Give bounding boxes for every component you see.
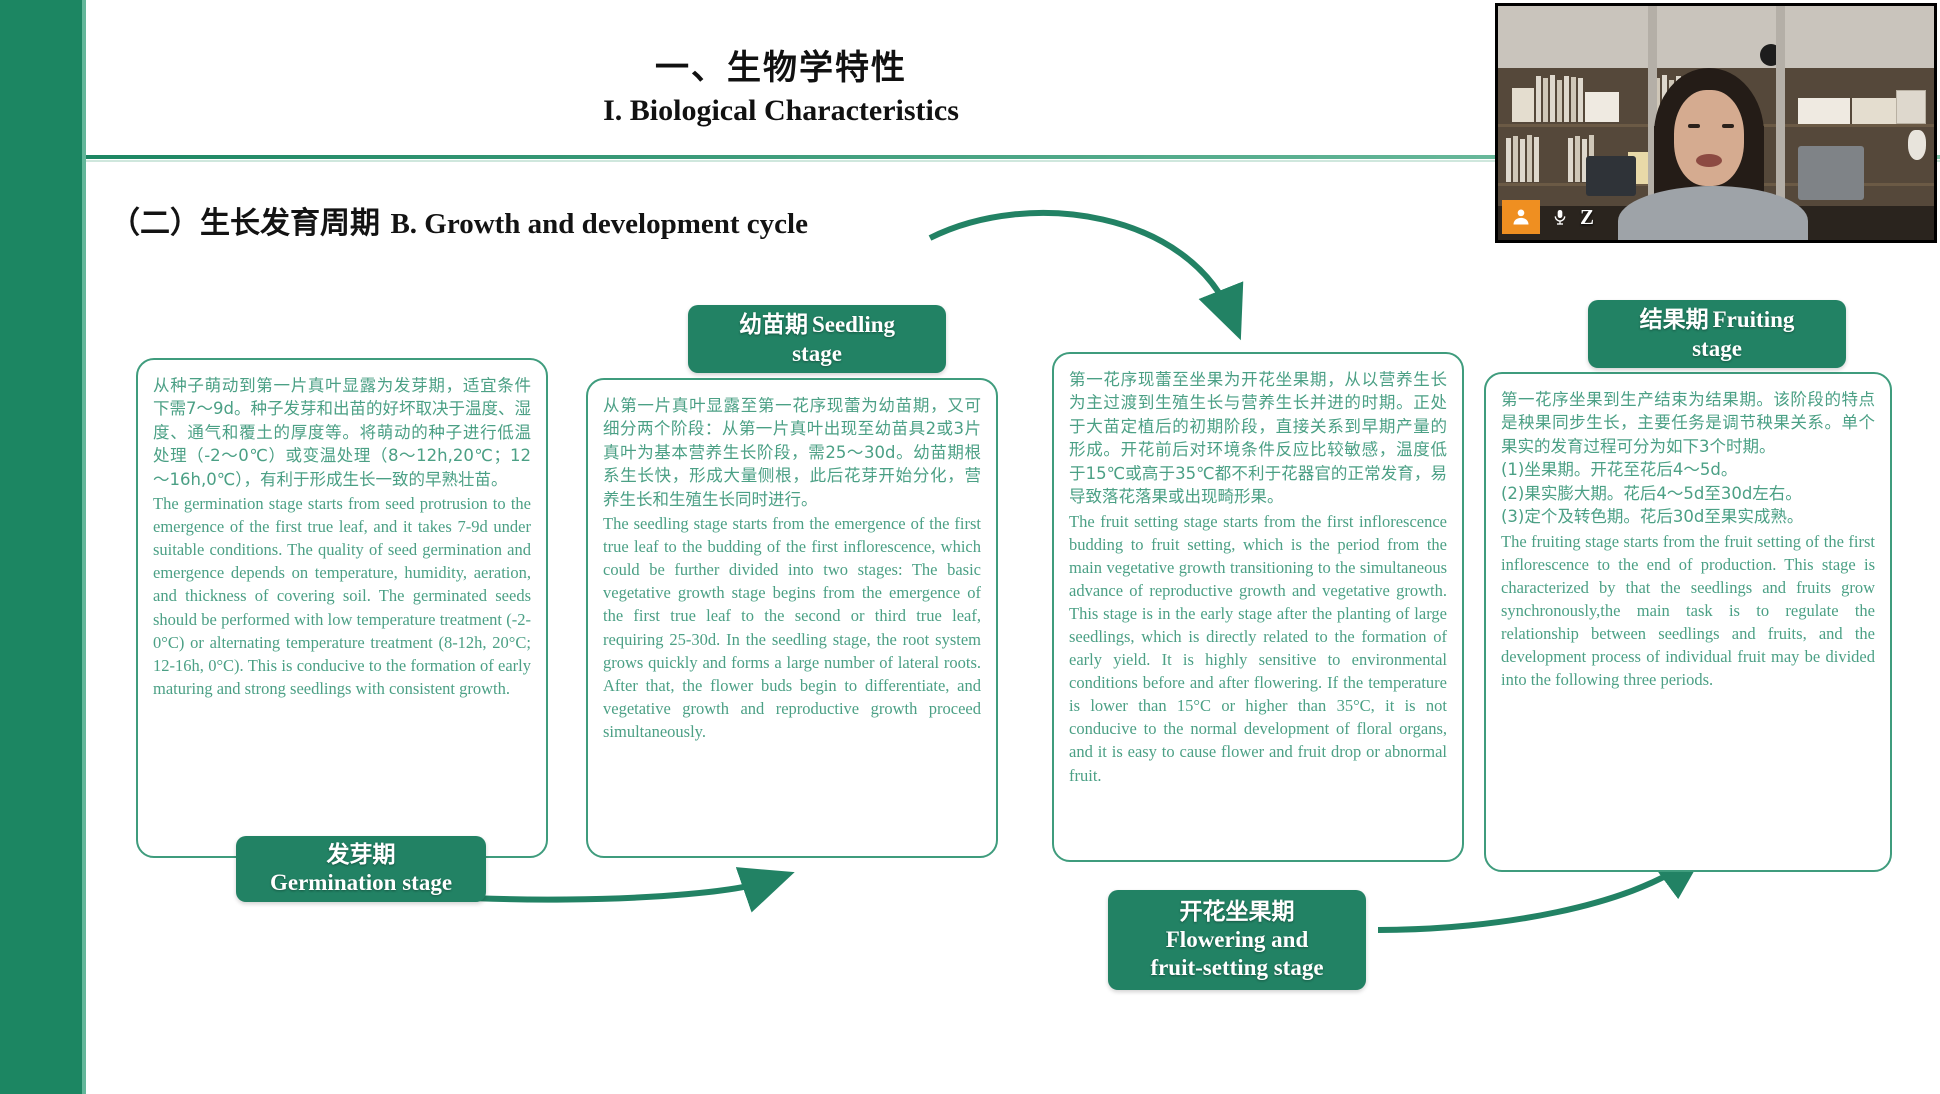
page-title-cn: 一、生物学特性 [86, 40, 1476, 89]
participant-eye-left [1688, 124, 1700, 128]
stage-label-fruiting-en-line1: Fruiting [1713, 307, 1795, 332]
slide-canvas: 一、生物学特性 I. Biological Characteristics （二… [0, 0, 1940, 1094]
stage-label-germination-en: Germination stage [270, 869, 452, 896]
stage-label-germination-cn: 发芽期 [327, 842, 396, 869]
storage-box-2 [1896, 90, 1926, 124]
stage-label-seedling-cn: 幼苗期 [739, 312, 808, 338]
stage-label-flowering-cn: 开花坐果期 [1180, 899, 1295, 926]
stage-card-fruiting-text-en: The fruiting stage starts from the fruit… [1501, 530, 1875, 692]
stage-label-fruiting[interactable]: 结果期 Fruiting stage [1588, 300, 1846, 368]
microphone-icon[interactable] [1552, 205, 1568, 229]
stage-card-germination: 从种子萌动到第一片真叶显露为发芽期，适宜条件下需7～9d。种子发芽和出苗的好坏取… [136, 358, 548, 858]
participant-mouth [1696, 154, 1722, 167]
video-controls-bar[interactable]: Z [1502, 200, 1594, 234]
books-group-1 [1512, 72, 1619, 122]
books-group-4 [1506, 132, 1539, 182]
stage-label-seedling-en-line2: stage [792, 340, 842, 367]
stage-label-flowering[interactable]: 开花坐果期 Flowering and fruit-setting stage [1108, 890, 1366, 990]
arrow-seedling-to-flowering [930, 213, 1232, 318]
background-wall [1498, 6, 1934, 68]
stage-label-flowering-en-line1: Flowering and [1166, 926, 1308, 953]
section-subtitle: （二）生长发育周期 B. Growth and development cycl… [110, 198, 808, 242]
monitor-object [1798, 146, 1864, 200]
stage-card-seedling-text-cn: 从第一片真叶显露至第一花序现蕾为幼苗期，又可细分两个阶段：从第一片真叶出现至幼苗… [603, 394, 981, 511]
stage-card-fruiting-text-cn: 第一花序坐果到生产结束为结果期。该阶段的特点是秧果同步生长，主要任务是调节秧果关… [1501, 388, 1875, 529]
stage-card-seedling: 从第一片真叶显露至第一花序现蕾为幼苗期，又可细分两个阶段：从第一片真叶出现至幼苗… [586, 378, 998, 858]
section-subtitle-cn: （二）生长发育周期 [110, 206, 390, 241]
books-group-3 [1798, 84, 1904, 124]
participant-face [1674, 90, 1744, 186]
stage-label-germination[interactable]: 发芽期 Germination stage [236, 836, 486, 902]
video-overlay-panel[interactable]: Z [1495, 3, 1937, 243]
left-accent-bar [0, 0, 82, 1094]
stage-card-flowering-text-cn: 第一花序现蕾至坐果为开花坐果期，从以营养生长为主过渡到生殖生长与营养生长并进的时… [1069, 368, 1447, 509]
stage-label-fruiting-cn: 结果期 [1640, 307, 1709, 333]
stage-card-flowering: 第一花序现蕾至坐果为开花坐果期，从以营养生长为主过渡到生殖生长与营养生长并进的时… [1052, 352, 1464, 862]
left-accent-highlight [82, 0, 86, 1094]
slide-header: 一、生物学特性 I. Biological Characteristics [86, 0, 1476, 158]
participant-eye-right [1722, 124, 1734, 128]
laptop-object [1586, 156, 1636, 196]
decor-vase [1908, 130, 1926, 160]
section-subtitle-en: B. Growth and development cycle [390, 208, 808, 240]
stage-label-fruiting-en-line2: stage [1692, 335, 1742, 362]
stage-label-seedling[interactable]: 幼苗期 Seedling stage [688, 305, 946, 373]
stage-card-seedling-text-en: The seedling stage starts from the emerg… [603, 512, 981, 743]
stage-label-seedling-en-line1: Seedling [812, 312, 895, 337]
stage-card-germination-text-cn: 从种子萌动到第一片真叶显露为发芽期，适宜条件下需7～9d。种子发芽和出苗的好坏取… [153, 374, 531, 491]
stage-card-flowering-text-en: The fruit setting stage starts from the … [1069, 510, 1447, 787]
stage-card-germination-text-en: The germination stage starts from seed p… [153, 492, 531, 700]
stage-card-fruiting: 第一花序坐果到生产结束为结果期。该阶段的特点是秧果同步生长，主要任务是调节秧果关… [1484, 372, 1892, 872]
stage-label-flowering-en-line2: fruit-setting stage [1150, 954, 1323, 981]
participant-person-icon[interactable] [1502, 200, 1540, 234]
arrow-flowering-to-fruiting [1378, 862, 1688, 930]
page-title-en: I. Biological Characteristics [86, 94, 1476, 128]
zoom-brand-logo: Z [1580, 205, 1594, 230]
